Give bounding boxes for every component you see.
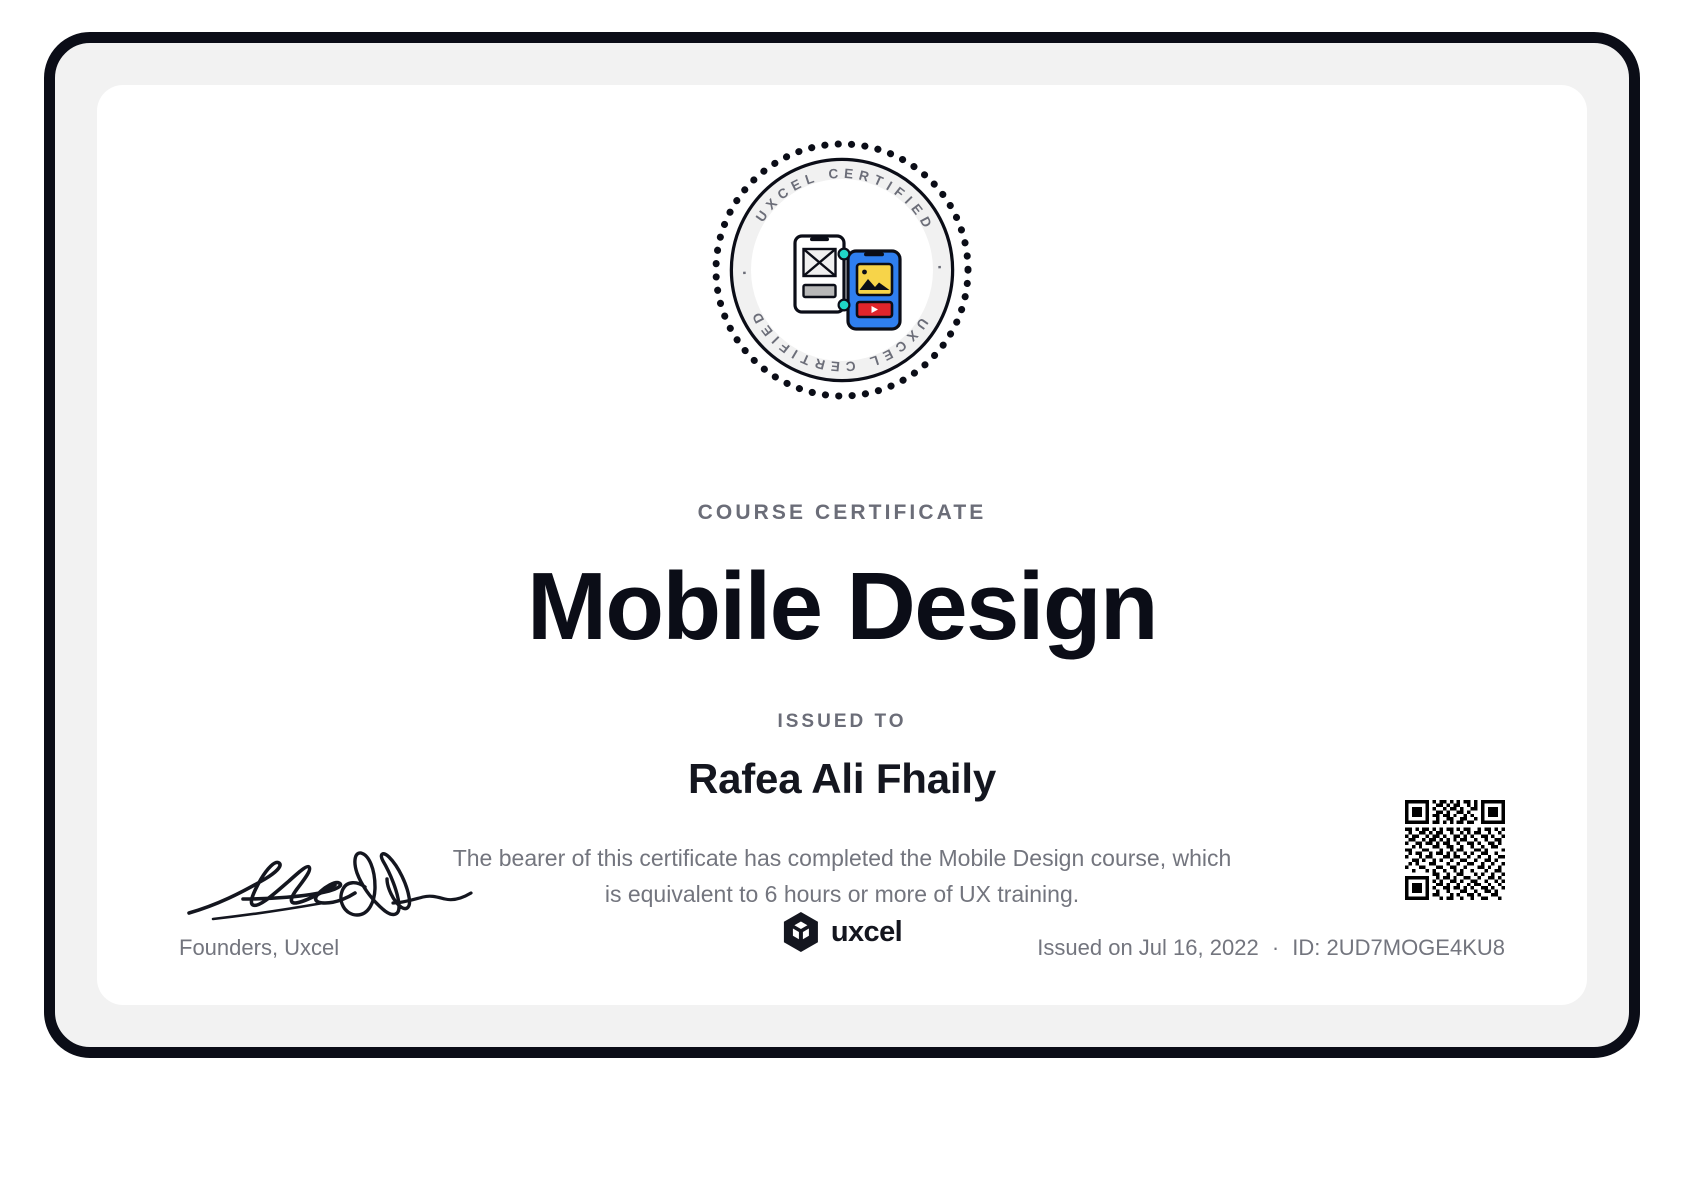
connector-node-bottom (839, 300, 850, 311)
certificate-card: UXCEL CERTIFIED UXCEL CERTIFIED · · (97, 85, 1587, 1005)
qr-code-icon[interactable] (1405, 800, 1505, 900)
issue-meta: Issued on Jul 16, 2022 · ID: 2UD7MOGE4KU… (1037, 935, 1505, 961)
uxcel-brand: uxcel (782, 911, 902, 953)
certificate-type-eyebrow: COURSE CERTIFICATE (97, 501, 1587, 525)
badge-ring-separator-left: · (930, 265, 949, 271)
certified-badge-svg: UXCEL CERTIFIED UXCEL CERTIFIED · · (709, 137, 975, 403)
certified-badge: UXCEL CERTIFIED UXCEL CERTIFIED · · (97, 137, 1587, 403)
certificate-outer-frame: UXCEL CERTIFIED UXCEL CERTIFIED · · (44, 32, 1640, 1058)
wireframe-phone-icon (795, 236, 844, 312)
issue-meta-separator: · (1265, 935, 1286, 960)
badge-ring-separator-right: · (735, 269, 754, 275)
uxcel-hexagon-logo-icon (782, 911, 820, 953)
description-line-2: is equivalent to 6 hours or more of UX t… (442, 877, 1242, 913)
signature-block: Founders, Uxcel (179, 841, 509, 961)
certificate-id: ID: 2UD7MOGE4KU8 (1292, 935, 1505, 960)
founders-label: Founders, Uxcel (179, 935, 509, 961)
issued-to-label: ISSUED TO (97, 711, 1587, 733)
founders-signature-icon (179, 841, 479, 927)
recipient-name: Rafea Ali Fhaily (97, 755, 1587, 803)
description-line-1: The bearer of this certificate has compl… (442, 841, 1242, 877)
issued-on-date: Issued on Jul 16, 2022 (1037, 935, 1258, 960)
verification-qr-code[interactable] (1405, 800, 1505, 905)
certificate-description: The bearer of this certificate has compl… (442, 841, 1242, 912)
designed-phone-icon (848, 251, 900, 329)
issue-block: Issued on Jul 16, 2022 · ID: 2UD7MOGE4KU… (1037, 935, 1505, 961)
uxcel-brand-name: uxcel (831, 916, 902, 949)
course-title: Mobile Design (97, 555, 1587, 659)
connector-node-top (839, 249, 850, 260)
